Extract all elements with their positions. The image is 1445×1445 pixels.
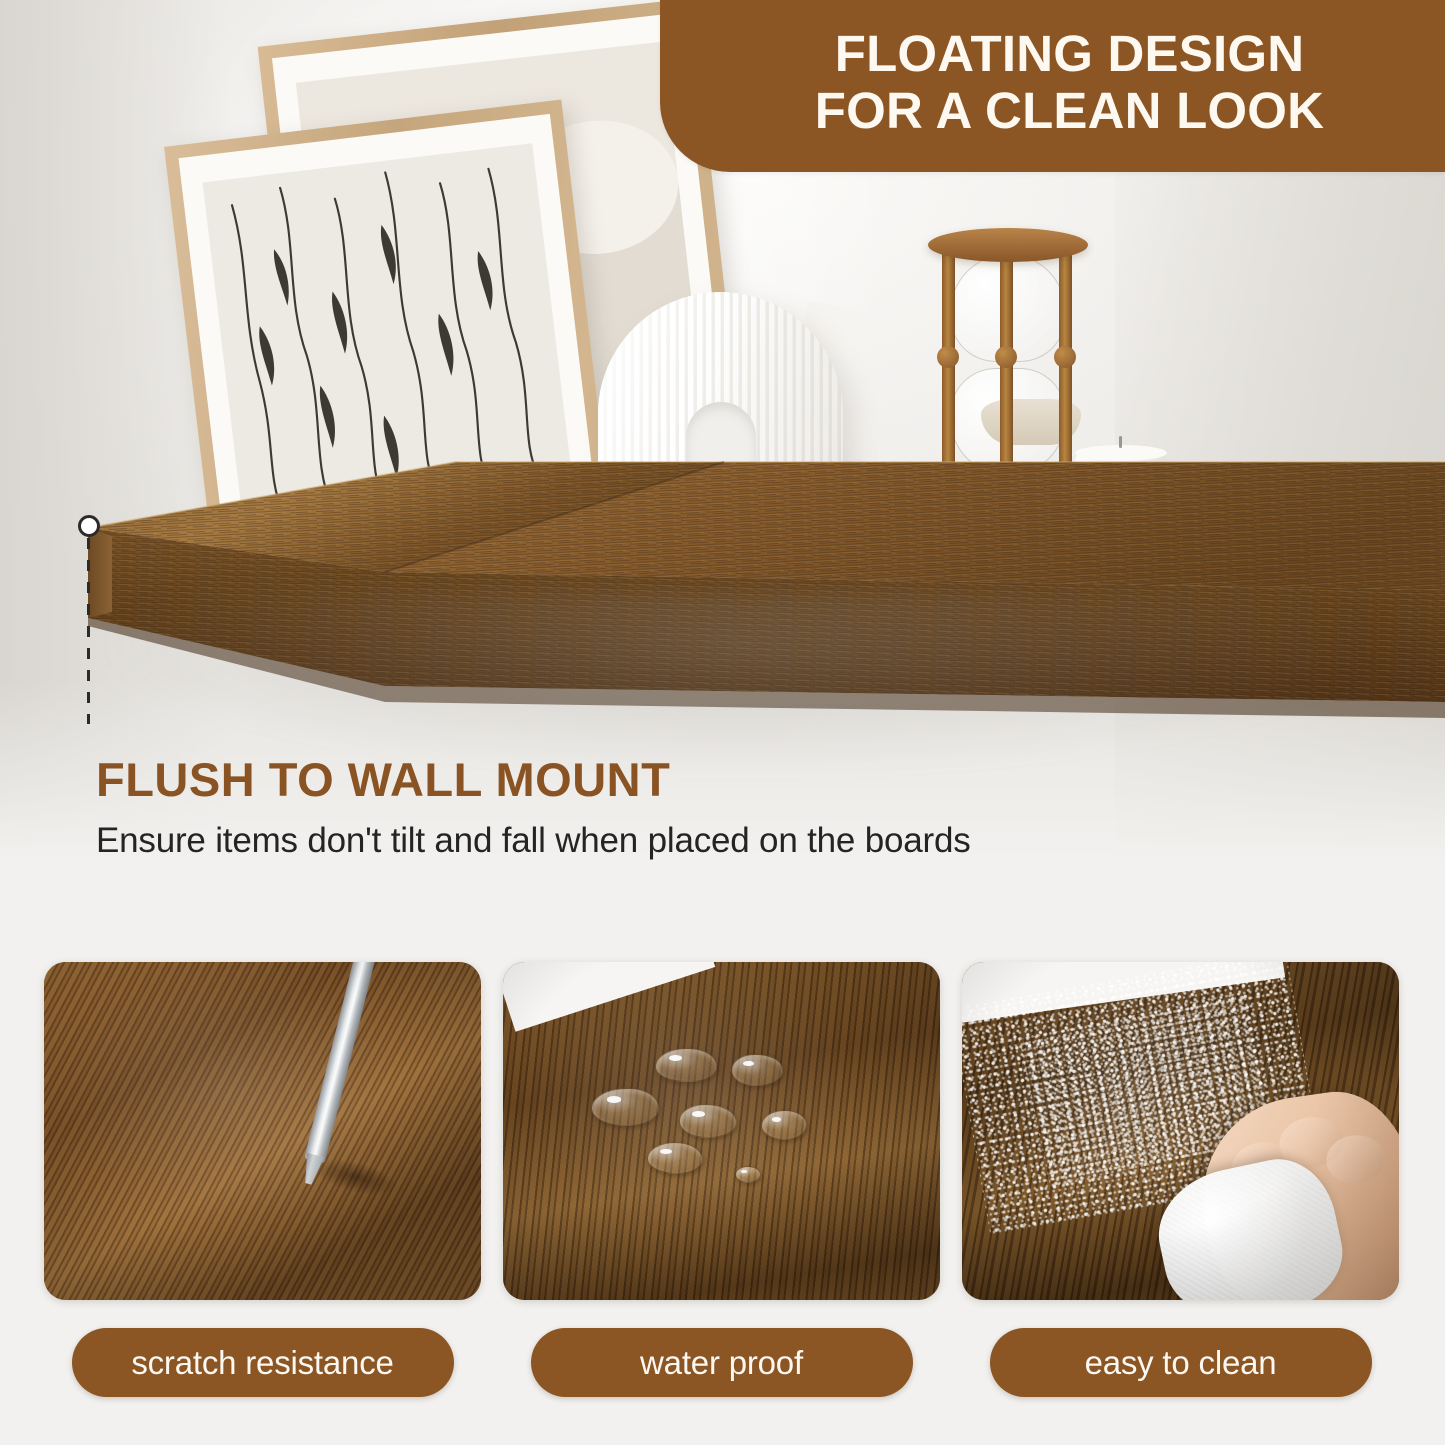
banner-headline-line-1: FLOATING DESIGN bbox=[835, 25, 1305, 82]
shelf-drop-shadow bbox=[110, 590, 1370, 770]
feature-pill-clean: easy to clean bbox=[990, 1328, 1372, 1397]
feature-pill-scratch-label: scratch resistance bbox=[131, 1344, 393, 1382]
hourglass-top-cap bbox=[928, 228, 1088, 262]
photo-vignette bbox=[962, 962, 1399, 1300]
callout-dashed-line bbox=[87, 538, 90, 724]
feature-panels-row: scratch resistance wat bbox=[44, 962, 1401, 1397]
flush-mount-subtitle: Ensure items don't tilt and fall when pl… bbox=[96, 821, 971, 861]
feature-column-scratch: scratch resistance bbox=[44, 962, 481, 1397]
floating-design-banner: FLOATING DESIGN FOR A CLEAN LOOK bbox=[660, 0, 1445, 172]
feature-pill-clean-label: easy to clean bbox=[1085, 1344, 1277, 1382]
water-droplets-on-wood-photo bbox=[503, 962, 940, 1300]
photo-vignette bbox=[503, 962, 940, 1300]
shelf-edge-marker-icon bbox=[78, 515, 100, 537]
flush-mount-title: FLUSH TO WALL MOUNT bbox=[96, 752, 670, 807]
feature-pill-water: water proof bbox=[531, 1328, 913, 1397]
hand-wiping-wood-photo bbox=[962, 962, 1399, 1300]
feature-pill-scratch: scratch resistance bbox=[72, 1328, 454, 1397]
feature-panels-section: scratch resistance wat bbox=[0, 930, 1445, 1445]
product-feature-poster: 2023 ПОЛ АРДЕН УРОКИ СТИЛЯ ЖКОБСА bbox=[0, 0, 1445, 1445]
hourglass-knob bbox=[1054, 346, 1076, 368]
rustic-brown-floating-shelf bbox=[0, 440, 1445, 760]
photo-vignette bbox=[44, 962, 481, 1300]
hourglass-knob bbox=[937, 346, 959, 368]
hourglass-knob bbox=[995, 346, 1017, 368]
banner-headline-line-2: FOR A CLEAN LOOK bbox=[815, 82, 1324, 139]
feature-pill-water-label: water proof bbox=[640, 1344, 803, 1382]
feature-column-clean: easy to clean bbox=[962, 962, 1399, 1397]
screwdriver-on-wood-photo bbox=[44, 962, 481, 1300]
feature-column-water: water proof bbox=[503, 962, 940, 1397]
